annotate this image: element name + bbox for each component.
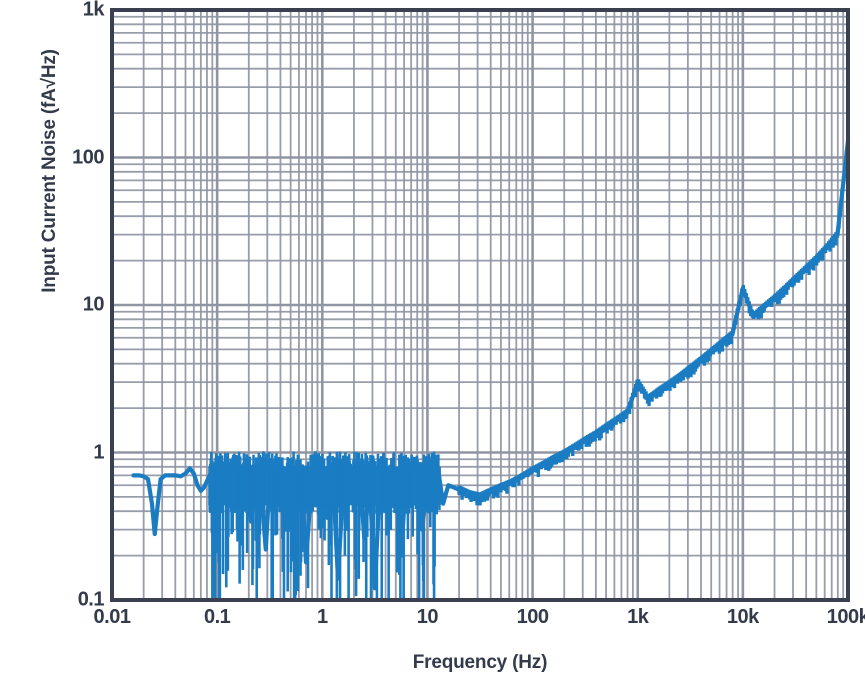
plot-area bbox=[0, 0, 865, 684]
chart-figure: Input Current Noise (fA√Hz) Frequency (H… bbox=[0, 0, 865, 684]
